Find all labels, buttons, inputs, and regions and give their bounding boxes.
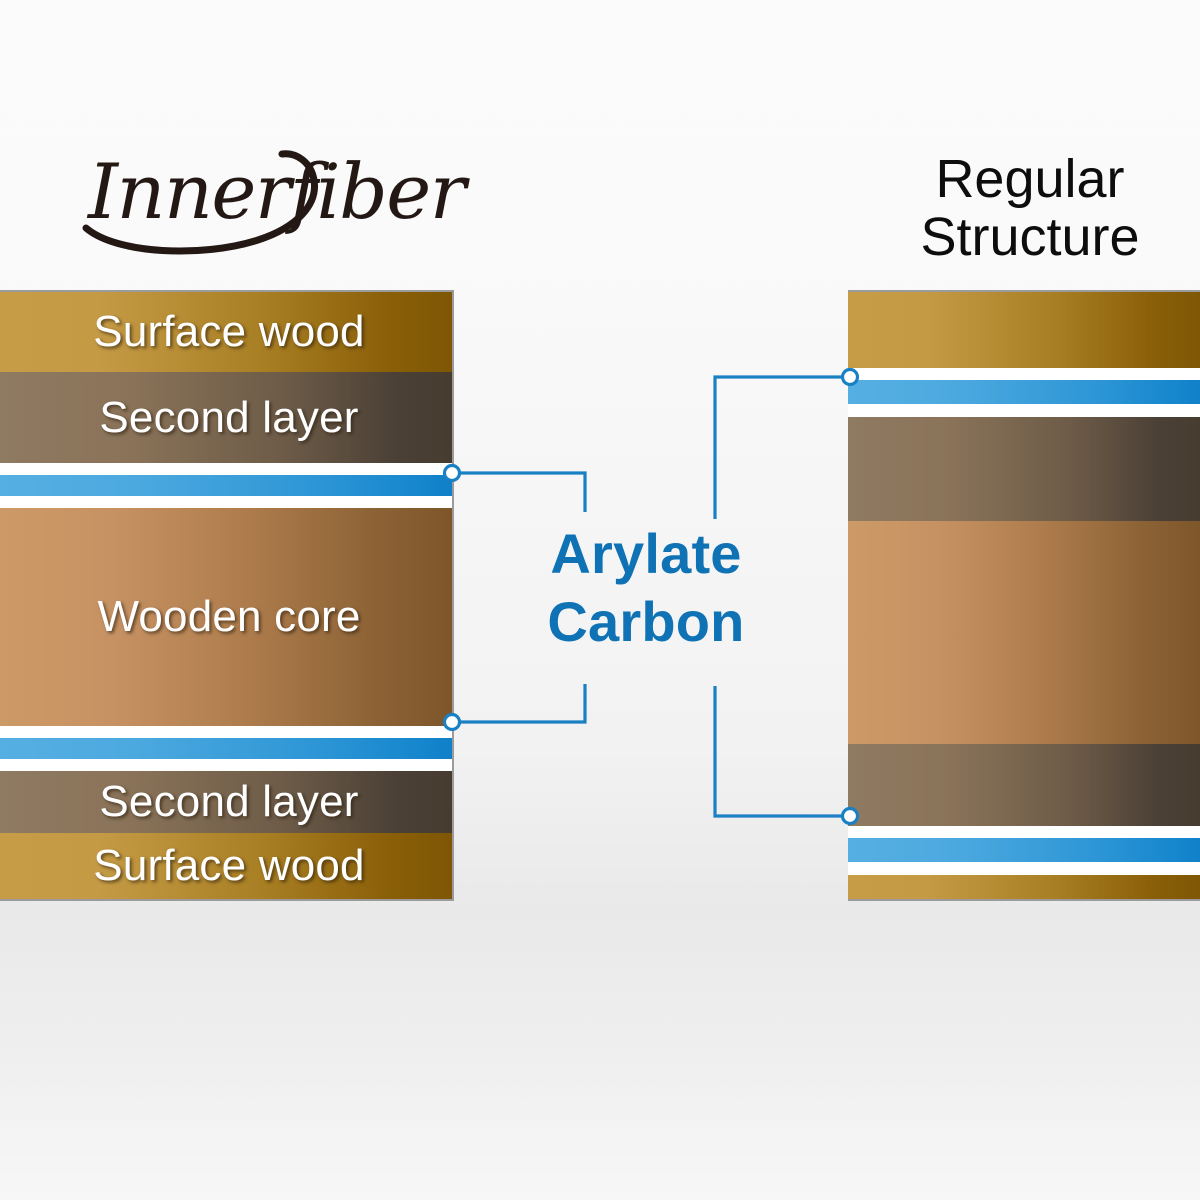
regular-structure-layer-white-sep-bot-1 bbox=[848, 826, 1200, 839]
regular-structure-heading-line1: Regular bbox=[860, 150, 1200, 208]
innerfiber-structure-layer-arylate-carbon-top bbox=[0, 475, 452, 496]
regular-structure-layer-arylate-carbon-top bbox=[848, 380, 1200, 404]
regular-structure-layer-white-sep-top-1 bbox=[848, 368, 1200, 381]
innerfiber-logo-artwork: Innerfiber bbox=[82, 136, 372, 256]
innerfiber-structure-layer-white-sep-bot-2 bbox=[0, 759, 452, 771]
innerfiber-structure-layer-second-layer-bot: Second layer bbox=[0, 771, 452, 833]
regular-structure-layer-white-sep-top-2 bbox=[848, 404, 1200, 417]
innerfiber-structure-layer-wooden-core: Wooden core bbox=[0, 508, 452, 726]
diagram-stage: Innerfiber Regular Structure Surface woo… bbox=[0, 0, 1200, 1200]
connector-left-top-line bbox=[452, 473, 585, 512]
innerfiber-structure-layer-arylate-carbon-bot bbox=[0, 738, 452, 759]
innerfiber-structure-label-surface-wood-top: Surface wood bbox=[85, 307, 364, 357]
regular-structure bbox=[848, 290, 1200, 901]
connector-right-top-line bbox=[715, 377, 850, 519]
connector-right-bot-line bbox=[715, 686, 850, 816]
innerfiber-structure-layer-white-sep-bot-1 bbox=[0, 726, 452, 738]
innerfiber-structure-layer-white-sep-top-1 bbox=[0, 463, 452, 475]
innerfiber-structure-layer-surface-wood-top: Surface wood bbox=[0, 292, 452, 372]
regular-structure-layer-second-layer-top bbox=[848, 417, 1200, 520]
innerfiber-logo-text: Innerfiber bbox=[86, 147, 471, 236]
innerfiber-logo: Innerfiber bbox=[82, 136, 372, 256]
regular-structure-layer-wooden-core bbox=[848, 521, 1200, 745]
innerfiber-structure-label-surface-wood-bot: Surface wood bbox=[85, 841, 364, 891]
connector-left-bot-line bbox=[452, 684, 585, 722]
innerfiber-structure-label-second-layer-top: Second layer bbox=[91, 393, 358, 443]
regular-structure-layer-surface-wood-top bbox=[848, 292, 1200, 368]
innerfiber-structure-label-second-layer-bot: Second layer bbox=[91, 777, 358, 827]
innerfiber-structure-layer-white-sep-top-2 bbox=[0, 496, 452, 508]
innerfiber-structure-layer-surface-wood-bot: Surface wood bbox=[0, 833, 452, 899]
arylate-carbon-callout: Arylate Carbon bbox=[468, 520, 824, 657]
regular-structure-layer-surface-wood-bot bbox=[848, 875, 1200, 899]
regular-structure-layer-second-layer-bot bbox=[848, 744, 1200, 825]
regular-structure-layer-white-sep-bot-2 bbox=[848, 862, 1200, 875]
arylate-carbon-callout-line2: Carbon bbox=[468, 588, 824, 656]
innerfiber-structure: Surface woodSecond layerWooden coreSecon… bbox=[0, 290, 454, 901]
innerfiber-structure-label-wooden-core: Wooden core bbox=[89, 592, 360, 642]
regular-structure-heading: Regular Structure bbox=[860, 150, 1200, 267]
regular-structure-heading-line2: Structure bbox=[860, 208, 1200, 266]
arylate-carbon-callout-line1: Arylate bbox=[468, 520, 824, 588]
regular-structure-layer-arylate-carbon-bot bbox=[848, 838, 1200, 862]
innerfiber-structure-layer-second-layer-top: Second layer bbox=[0, 372, 452, 463]
